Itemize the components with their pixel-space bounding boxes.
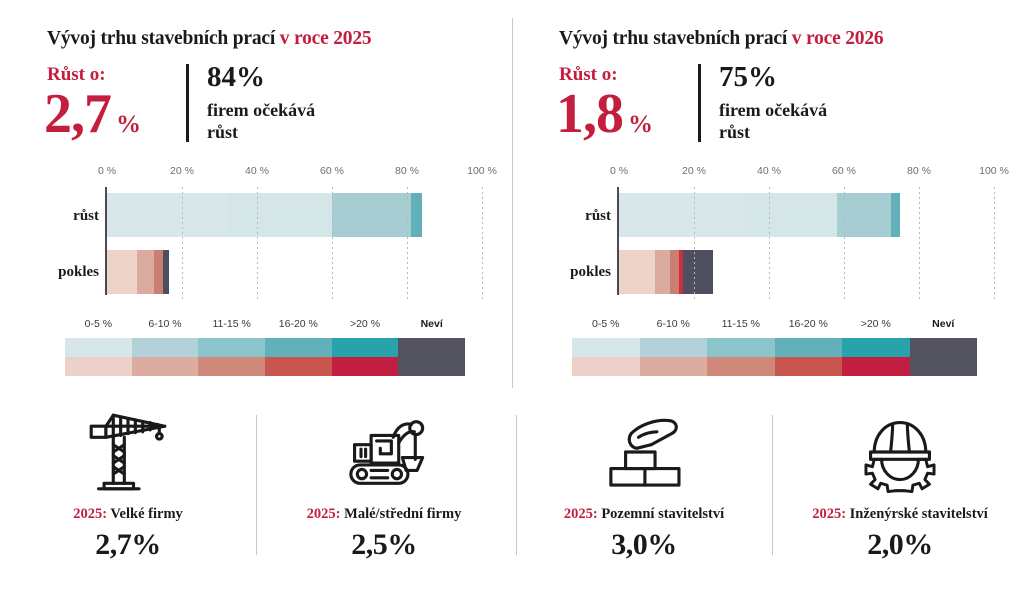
page-title-2025: Vývoj trhu stavebních prací v roce 2025 [47, 28, 371, 50]
growth-unit: % [628, 111, 652, 138]
bar-segment[interactable] [154, 250, 163, 294]
growth-value-2026: 1,8% [556, 86, 652, 142]
stat-rule-2026 [698, 64, 701, 142]
legend-swatch-growth [398, 338, 465, 357]
bar-chart-2025: 0 %20 %40 %60 %80 %100 % [0, 165, 512, 310]
stat-card-male-stredni-firmy[interactable]: 2025: Malé/střední firmy 2,5% [256, 398, 512, 595]
legend-swatch-growth [198, 338, 265, 357]
bar-decline-2026[interactable] [619, 250, 713, 294]
bar-segment[interactable] [227, 193, 332, 237]
stat-cards: 2025: Velké firmy 2,7% [0, 398, 1024, 595]
x-axis-tick: 0 % [98, 165, 116, 177]
legend-swatch-pair [640, 338, 708, 376]
stat-sub-line1: firem očekává [207, 100, 315, 120]
legend-swatch-decline [775, 357, 843, 376]
title-accent: v roce 2026 [792, 28, 884, 49]
gridline [994, 187, 995, 299]
card-year: 2025: [307, 506, 341, 522]
card-value: 2,0% [772, 528, 1024, 562]
x-axis-tick: 0 % [610, 165, 628, 177]
legend-swatch-decline [132, 357, 199, 376]
legend-swatch-decline [198, 357, 265, 376]
legend-label: Neví [932, 318, 954, 330]
legend-swatch-decline [265, 357, 332, 376]
legend-swatch-growth [842, 338, 910, 357]
x-axis-2025: 0 %20 %40 %60 %80 %100 % [0, 165, 512, 183]
bar-decline-2025[interactable] [107, 250, 169, 294]
legend-swatch-pair [132, 338, 199, 376]
legend-label: 11-15 % [722, 318, 760, 330]
x-axis-tick: 80 % [395, 165, 419, 177]
legend-label: 0-5 % [85, 318, 112, 330]
card-label-text: Inženýrské stavitelství [850, 506, 988, 522]
hardhat-gear-icon [854, 406, 946, 498]
card-year: 2025: [564, 506, 598, 522]
legend-swatch-pair [332, 338, 399, 376]
gridline [182, 187, 183, 299]
stat-big-2025: 84% [207, 63, 265, 92]
legend-label: >20 % [350, 318, 380, 330]
stat-sub-line2: růst [719, 122, 750, 142]
bar-segment[interactable] [655, 250, 670, 294]
legend-swatch-decline [707, 357, 775, 376]
legend-swatch-decline [640, 357, 708, 376]
legend-strip-2025 [65, 338, 465, 376]
legend-swatch-pair [842, 338, 910, 376]
legend-swatch-pair [910, 338, 978, 376]
legend-swatch-decline [572, 357, 640, 376]
stat-card-inzenyrske-stavitelstvi[interactable]: 2025: Inženýrské stavitelství 2,0% [772, 398, 1024, 595]
card-value: 2,7% [0, 528, 256, 562]
x-axis-tick: 80 % [907, 165, 931, 177]
gridline [332, 187, 333, 299]
x-axis-tick: 60 % [320, 165, 344, 177]
x-axis-tick: 20 % [682, 165, 706, 177]
legend-swatch-pair [398, 338, 465, 376]
plot-area-2025 [107, 187, 482, 295]
gridline [482, 187, 483, 299]
legend-swatch-pair [265, 338, 332, 376]
legend-swatch-pair [65, 338, 132, 376]
bar-chart-2026: 0 %20 %40 %60 %80 %100 % [512, 165, 1024, 310]
bricklaying-icon [598, 406, 690, 498]
legend-swatch-growth [640, 338, 708, 357]
legend-2026: 0-5 %6-10 %11-15 %16-20 %>20 %Neví [572, 318, 977, 380]
legend-strip-2026 [572, 338, 977, 376]
card-label: 2025: Malé/střední firmy [256, 506, 512, 523]
gridline [769, 187, 770, 299]
bar-segment[interactable] [411, 193, 422, 237]
bar-segment[interactable] [137, 250, 154, 294]
x-axis-tick: 100 % [979, 165, 1009, 177]
panel-2026: Vývoj trhu stavebních prací v roce 2026 … [512, 0, 1024, 392]
x-axis-tick: 40 % [757, 165, 781, 177]
page-title-2026: Vývoj trhu stavebních prací v roce 2026 [559, 28, 883, 50]
legend-label: 0-5 % [592, 318, 619, 330]
growth-number: 1,8 [556, 83, 623, 145]
growth-unit: % [116, 111, 140, 138]
gridline [694, 187, 695, 299]
bar-growth-2025[interactable] [107, 193, 422, 237]
stat-card-pozemni-stavitelstvi[interactable]: 2025: Pozemní stavitelství 3,0% [516, 398, 772, 595]
title-accent: v roce 2025 [280, 28, 372, 49]
stat-sub-line2: růst [207, 122, 238, 142]
title-main: Vývoj trhu stavebních prací [559, 28, 787, 49]
excavator-icon [338, 406, 430, 498]
legend-swatch-pair [572, 338, 640, 376]
gridline [407, 187, 408, 299]
growth-value-2025: 2,7% [44, 86, 140, 142]
card-label-text: Velké firmy [110, 506, 182, 522]
bar-segment[interactable] [891, 193, 900, 237]
crane-icon [82, 406, 174, 498]
gridline [257, 187, 258, 299]
plot-area-2026 [619, 187, 994, 295]
bar-segment[interactable] [743, 193, 837, 237]
legend-swatch-growth [572, 338, 640, 357]
legend-swatch-growth [775, 338, 843, 357]
legend-swatch-growth [265, 338, 332, 357]
stat-sub-2026: firem očekává růst [719, 100, 827, 144]
bar-segment[interactable] [619, 250, 655, 294]
legend-swatch-pair [775, 338, 843, 376]
stat-sub-2025: firem očekává růst [207, 100, 315, 144]
bar-segment[interactable] [107, 193, 227, 237]
legend-label: 11-15 % [212, 318, 250, 330]
x-axis-2026: 0 %20 %40 %60 %80 %100 % [512, 165, 1024, 183]
stat-card-velke-firmy[interactable]: 2025: Velké firmy 2,7% [0, 398, 256, 595]
x-axis-tick: 100 % [467, 165, 497, 177]
legend-swatch-decline [842, 357, 910, 376]
legend-label: 6-10 % [657, 318, 690, 330]
bar-segment[interactable] [670, 250, 679, 294]
x-axis-tick: 40 % [245, 165, 269, 177]
x-axis-tick: 60 % [832, 165, 856, 177]
legend-label: 16-20 % [789, 318, 828, 330]
legend-swatch-decline [398, 357, 465, 376]
legend-label: >20 % [861, 318, 891, 330]
card-label-text: Pozemní stavitelství [601, 506, 724, 522]
bar-segment[interactable] [163, 250, 169, 294]
legend-swatch-decline [65, 357, 132, 376]
card-year: 2025: [812, 506, 846, 522]
stat-sub-line1: firem očekává [719, 100, 827, 120]
legend-swatch-decline [910, 357, 978, 376]
legend-swatch-growth [332, 338, 399, 357]
stat-rule-2025 [186, 64, 189, 142]
card-label: 2025: Velké firmy [0, 506, 256, 523]
legend-swatch-pair [198, 338, 265, 376]
card-label: 2025: Inženýrské stavitelství [772, 506, 1024, 523]
legend-labels-2026: 0-5 %6-10 %11-15 %16-20 %>20 %Neví [572, 318, 977, 335]
legend-swatch-growth [65, 338, 132, 357]
bar-segment[interactable] [683, 250, 713, 294]
x-axis-tick: 20 % [170, 165, 194, 177]
bar-segment[interactable] [619, 193, 743, 237]
card-label-text: Malé/střední firmy [344, 506, 461, 522]
bar-growth-2026[interactable] [619, 193, 900, 237]
bar-segment[interactable] [107, 250, 137, 294]
legend-2025: 0-5 %6-10 %11-15 %16-20 %>20 %Neví [65, 318, 465, 380]
card-value: 2,5% [256, 528, 512, 562]
growth-number: 2,7 [44, 83, 111, 145]
infographic-page: Vývoj trhu stavebních prací v roce 2025 … [0, 0, 1024, 595]
card-year: 2025: [73, 506, 107, 522]
legend-label: Neví [421, 318, 443, 330]
panel-2025: Vývoj trhu stavebních prací v roce 2025 … [0, 0, 512, 392]
card-value: 3,0% [516, 528, 772, 562]
title-main: Vývoj trhu stavebních prací [47, 28, 275, 49]
legend-label: 16-20 % [279, 318, 318, 330]
gridline [844, 187, 845, 299]
gridline [919, 187, 920, 299]
legend-swatch-decline [332, 357, 399, 376]
legend-swatch-growth [910, 338, 978, 357]
bar-segment[interactable] [332, 193, 411, 237]
card-label: 2025: Pozemní stavitelství [516, 506, 772, 523]
legend-label: 6-10 % [148, 318, 181, 330]
legend-swatch-pair [707, 338, 775, 376]
legend-swatch-growth [132, 338, 199, 357]
stat-big-2026: 75% [719, 63, 777, 92]
legend-swatch-growth [707, 338, 775, 357]
legend-labels-2025: 0-5 %6-10 %11-15 %16-20 %>20 %Neví [65, 318, 465, 335]
